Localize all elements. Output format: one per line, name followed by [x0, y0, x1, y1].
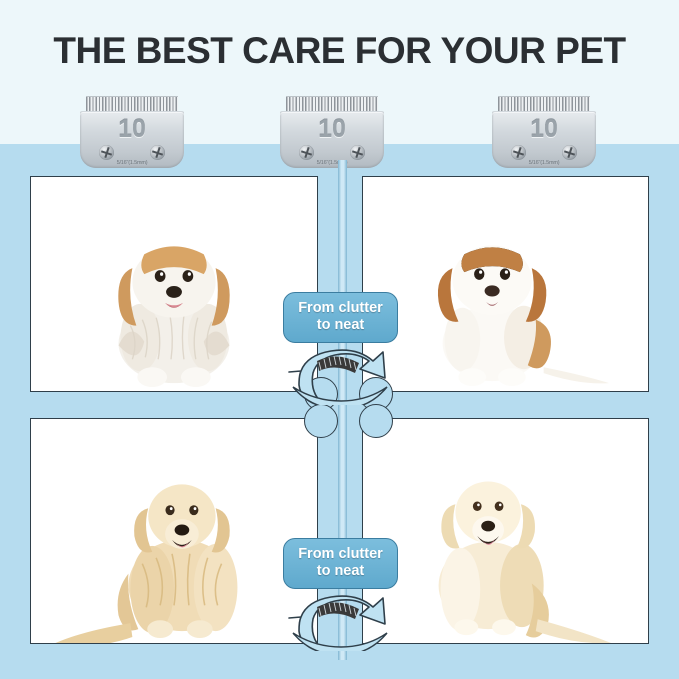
dog-photo-groomed-golden-retriever: [363, 419, 648, 643]
badge-line-2: to neat: [284, 563, 397, 580]
curved-double-arrow-icon: [283, 591, 398, 651]
blade-body: 10 5/16"(1.5mm): [80, 112, 184, 168]
panel-notch-bottom-right: [359, 404, 393, 438]
blade-screw-right-icon: [350, 145, 365, 160]
badge-line-1: From clutter: [284, 546, 397, 563]
clipper-blade-2: 10 5/16"(1.5mm): [280, 96, 384, 168]
badge-line-2: to neat: [284, 317, 397, 334]
before-photo-panel-1: [30, 176, 318, 392]
dog-photo-shaggy-golden-retriever: [31, 419, 317, 643]
blade-size-label: 5/16"(1.5mm): [492, 160, 596, 166]
clipper-blade-1: 10 5/16"(1.5mm): [80, 96, 184, 168]
clipper-blade-3: 10 5/16"(1.5mm): [492, 96, 596, 168]
blade-screw-left-icon: [99, 145, 114, 160]
after-photo-panel-1: [362, 176, 649, 392]
transition-badge-1: From clutter to neat: [283, 292, 398, 405]
blade-screw-right-icon: [562, 145, 577, 160]
blade-size-label: 5/16"(1.5mm): [280, 160, 384, 166]
blade-size-label: 5/16"(1.5mm): [80, 160, 184, 166]
product-infographic: THE BEST CARE FOR YOUR PET 10 5/16"(1.5m…: [0, 0, 679, 679]
blade-number: 10: [80, 115, 184, 144]
dog-photo-shaggy-havanese: [31, 177, 317, 391]
after-photo-panel-2: [362, 418, 649, 644]
badge-line-1: From clutter: [284, 300, 397, 317]
blade-teeth-icon: [86, 96, 178, 113]
blade-number: 10: [492, 115, 596, 144]
page-title: THE BEST CARE FOR YOUR PET: [0, 30, 679, 72]
blade-number: 10: [280, 115, 384, 144]
before-photo-panel-2: [30, 418, 318, 644]
badge-pill: From clutter to neat: [283, 292, 398, 343]
dog-photo-groomed-havanese: [363, 177, 648, 391]
blade-body: 10 5/16"(1.5mm): [492, 112, 596, 168]
panel-notch-bottom-left: [304, 404, 338, 438]
blade-teeth-icon: [286, 96, 378, 113]
blade-screw-right-icon: [150, 145, 165, 160]
transition-badge-2: From clutter to neat: [283, 538, 398, 651]
blade-screw-left-icon: [511, 145, 526, 160]
blade-screw-left-icon: [299, 145, 314, 160]
badge-pill: From clutter to neat: [283, 538, 398, 589]
curved-double-arrow-icon: [283, 345, 398, 405]
blade-body: 10 5/16"(1.5mm): [280, 112, 384, 168]
blade-teeth-icon: [498, 96, 590, 113]
